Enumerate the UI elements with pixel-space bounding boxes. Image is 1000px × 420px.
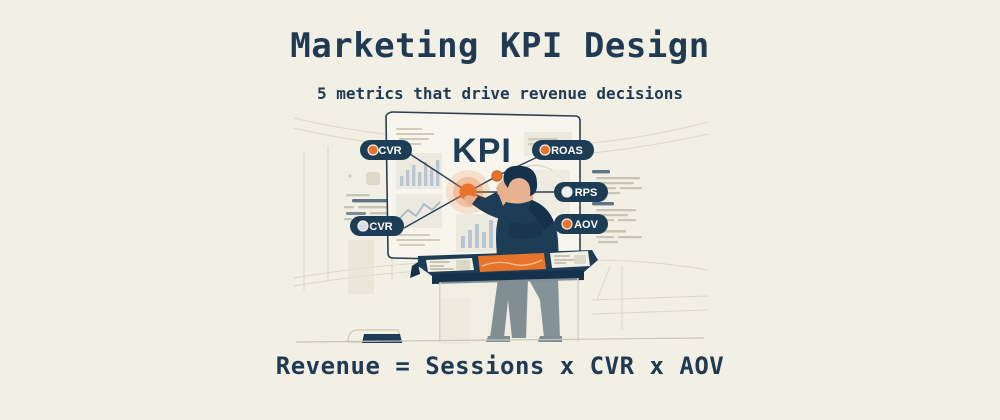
badge-rps[interactable]: RPS xyxy=(554,182,608,202)
bg-panel-left xyxy=(348,240,374,294)
screen-heading: KPI xyxy=(452,132,512,170)
badge-label: CVR xyxy=(378,145,401,157)
formula-text: Revenue = Sessions x CVR x AOV xyxy=(0,352,1000,380)
badge-roas[interactable]: ROAS xyxy=(532,140,594,160)
poster-canvas: Marketing KPI Design 5 metrics that driv… xyxy=(0,0,1000,420)
badge-label: CVR xyxy=(369,221,392,233)
page-title: Marketing KPI Design xyxy=(0,26,1000,66)
badge-label: RPS xyxy=(575,187,598,199)
page-subtitle: 5 metrics that drive revenue decisions xyxy=(0,84,1000,103)
badge-aov[interactable]: AOV xyxy=(554,214,608,234)
console-desk xyxy=(410,250,598,342)
badge-label: AOV xyxy=(574,219,599,231)
badge-cvr-bottom[interactable]: CVR xyxy=(350,216,404,236)
trend-node xyxy=(492,171,502,181)
badge-cvr-top[interactable]: CVR xyxy=(360,140,412,160)
badge-label: ROAS xyxy=(551,145,583,157)
illustration: KPI xyxy=(292,110,708,345)
